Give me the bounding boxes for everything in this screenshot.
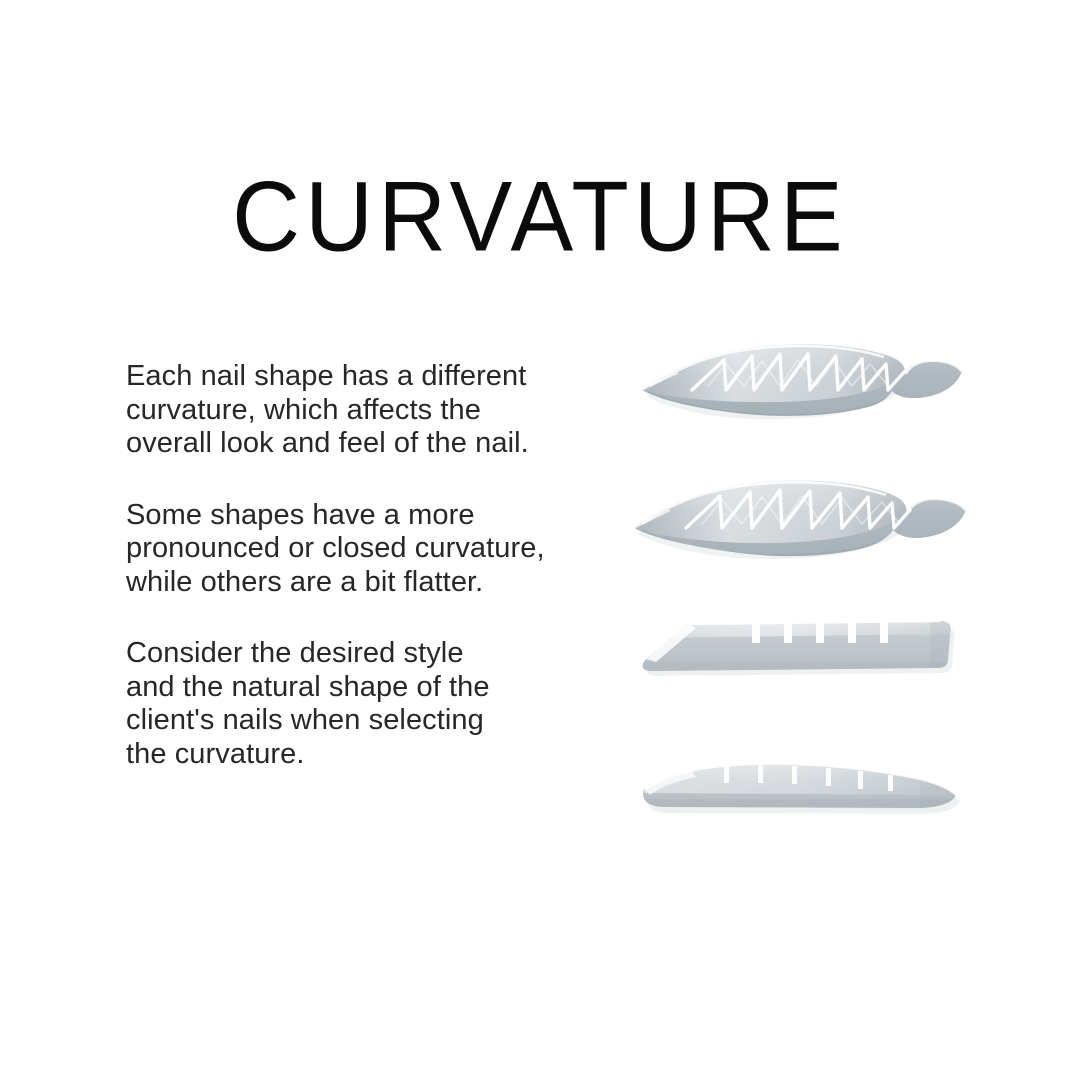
nail-tip-notch xyxy=(784,621,792,643)
nail-tip-deep-c-curve-2-image xyxy=(600,466,1000,576)
body-text-column: Each nail shape has a different curvatur… xyxy=(126,360,596,771)
paragraph-shape-variation: Some shapes have a more pronounced or cl… xyxy=(126,499,596,600)
nail-tip-flat-wedge-image xyxy=(600,602,1000,702)
nail-tip-top-face xyxy=(644,764,956,795)
nail-tip-illustration-column xyxy=(600,320,1000,860)
nail-tip-deep-c-curve-1-image xyxy=(600,328,1000,438)
paragraph-selection-advice: Consider the desired style and the natur… xyxy=(126,637,596,771)
page-title: CURVATURE xyxy=(0,167,1080,267)
nail-tip-tick xyxy=(858,771,863,789)
nail-tip-notch xyxy=(880,621,888,643)
nail-tip-tick xyxy=(792,766,797,784)
paragraph-curvature-definition: Each nail shape has a different curvatur… xyxy=(126,360,596,461)
slide-canvas: CURVATURE Each nail shape has a differen… xyxy=(0,0,1080,1080)
nail-tip-sloped-wedge-image xyxy=(600,745,1000,845)
nail-tip-tick xyxy=(826,768,831,786)
nail-tip-tick xyxy=(888,775,893,791)
nail-tip-tick xyxy=(758,765,763,783)
nail-tip-notch xyxy=(848,621,856,643)
nail-tip-tick xyxy=(724,765,729,783)
nail-tip-notch xyxy=(816,621,824,643)
